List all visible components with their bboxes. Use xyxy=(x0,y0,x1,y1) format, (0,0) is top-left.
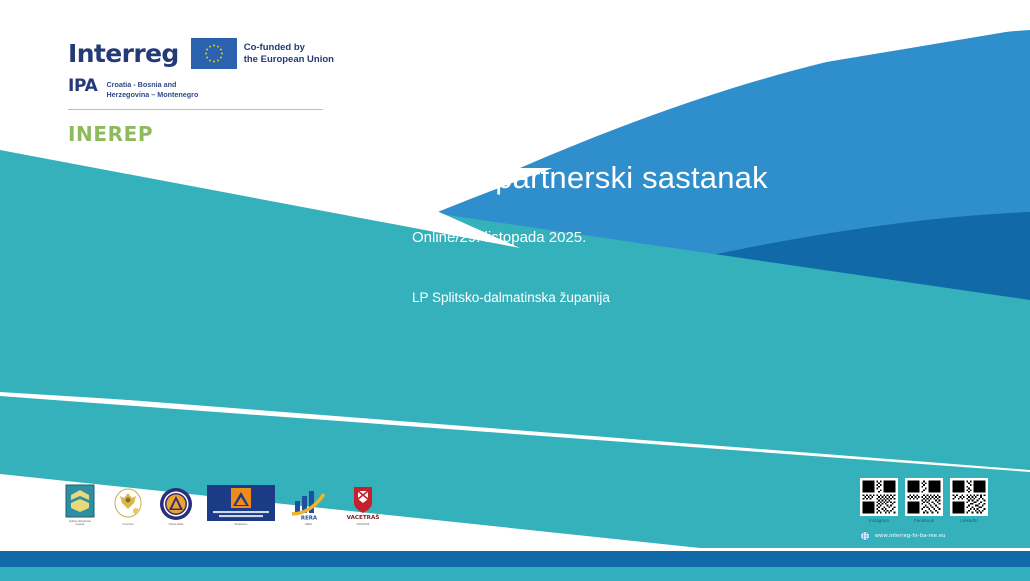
partner-wordmark-vacetras: VACETRAŠ xyxy=(347,514,380,521)
qr-facebook-label: Facebook xyxy=(914,518,934,523)
presentation-slide: Interreg xyxy=(0,0,1030,581)
qr-instagram-icon[interactable] xyxy=(860,478,898,516)
partner-caption-6: VACETRAŠ xyxy=(357,523,370,526)
slide-subtitle-organiser: LP Splitsko-dalmatinska županija xyxy=(412,290,610,305)
interreg-wordmark: Interreg xyxy=(68,41,179,66)
globe-icon xyxy=(860,531,870,541)
eu-flag-icon xyxy=(191,38,237,69)
red-shield-icon: VACETRAŠ xyxy=(342,485,384,521)
project-acronym: INEREP xyxy=(68,124,368,144)
qr-linkedin[interactable]: LinkedIn xyxy=(950,478,988,523)
partner-logo-4: Ministarstvo xyxy=(204,485,278,526)
qr-facebook[interactable]: Facebook xyxy=(905,478,943,523)
partner-caption-4: Ministarstvo xyxy=(235,523,248,526)
ipa-programme-area: Croatia - Bosnia and Herzegovina – Monte… xyxy=(106,78,198,99)
footer-stripe-blue xyxy=(0,551,1030,567)
interreg-logo-row: Interreg xyxy=(68,38,368,69)
eu-cofunding-line-2: the European Union xyxy=(244,54,334,66)
qr-linkedin-icon[interactable] xyxy=(950,478,988,516)
partner-logos: Splitsko-dalmatinska županija Crna Gora … xyxy=(60,484,386,526)
shield-teal-icon xyxy=(65,484,95,518)
partner-logo-6: VACETRAŠ VACETRAŠ xyxy=(340,485,386,526)
eu-cofunding-text: Co-funded by the European Union xyxy=(244,42,334,66)
footer-stripe-teal xyxy=(0,567,1030,581)
partner-logo-5: RERA RERA xyxy=(286,487,332,526)
partner-caption-3: Civilna zaštita xyxy=(169,523,184,526)
qr-instagram-label: Instagram xyxy=(869,518,889,523)
social-media-block: Instagram xyxy=(860,478,990,541)
qr-facebook-icon[interactable] xyxy=(905,478,943,516)
ipa-wordmark: IPA xyxy=(68,78,97,95)
civil-protection-roundel-icon xyxy=(159,487,193,521)
qr-instagram[interactable]: Instagram xyxy=(860,478,898,523)
partner-caption-2: Crna Gora xyxy=(122,523,133,526)
partner-logo-1: Splitsko-dalmatinska županija xyxy=(60,484,100,526)
blue-banner-icon xyxy=(207,485,275,521)
website-row[interactable]: www.interreg-hr-ba-me.eu xyxy=(860,531,990,541)
partner-logo-2: Crna Gora xyxy=(108,487,148,526)
ipa-area-line-2: Herzegovina – Montenegro xyxy=(106,90,198,100)
ipa-logo-row: IPA Croatia - Bosnia and Herzegovina – M… xyxy=(68,78,368,99)
partner-logo-3: Civilna zaštita xyxy=(156,487,196,526)
interreg-logo-lockup: Interreg xyxy=(68,38,368,144)
partner-caption-5: RERA xyxy=(306,523,313,526)
qr-code-row: Instagram xyxy=(860,478,990,523)
ipa-area-line-1: Croatia - Bosnia and xyxy=(106,80,198,90)
qr-linkedin-label: LinkedIn xyxy=(960,518,977,523)
slide-subtitle-date: Online/29. listopada 2025. xyxy=(412,229,586,246)
svg-text:RERA: RERA xyxy=(301,516,318,522)
crest-eagle-icon xyxy=(112,487,144,521)
slide-title: INEREP – 2. partnerski sastanak xyxy=(309,160,768,196)
eu-cofunding-line-1: Co-funded by xyxy=(244,42,334,54)
bars-chart-icon: RERA xyxy=(288,487,330,521)
website-url[interactable]: www.interreg-hr-ba-me.eu xyxy=(875,533,946,539)
logo-divider xyxy=(68,109,323,110)
partner-caption-1: Splitsko-dalmatinska županija xyxy=(69,520,91,526)
eu-emblem-group: Co-funded by the European Union xyxy=(191,38,334,69)
